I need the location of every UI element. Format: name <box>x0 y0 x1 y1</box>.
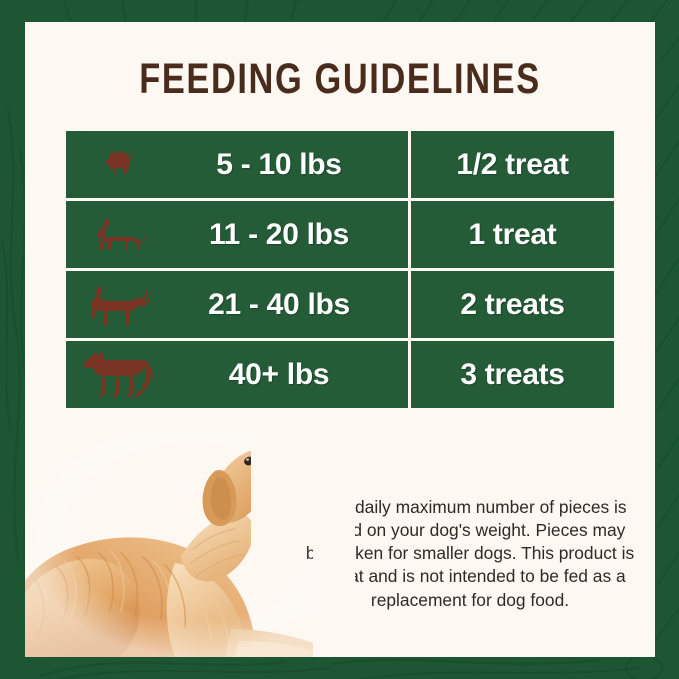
large-dog-icon <box>74 349 166 401</box>
treat-amount-label: 1 treat <box>469 218 557 252</box>
small-dog-icon <box>74 146 166 184</box>
page-title: FEEDING GUIDELINES <box>88 58 592 101</box>
weight-range-label: 40+ lbs <box>166 358 408 392</box>
weight-range-label: 21 - 40 lbs <box>166 288 408 322</box>
golden-retriever-photo <box>25 415 355 657</box>
table-cell-weight: 21 - 40 lbs <box>66 271 408 338</box>
table-cell-treats: 1 treat <box>411 201 614 268</box>
weight-range-label: 11 - 20 lbs <box>166 218 408 252</box>
feeding-guidelines-graphic: FEEDING GUIDELINES 5 - 10 <box>0 0 679 679</box>
table-cell-treats: 3 treats <box>411 341 614 408</box>
treat-amount-label: 3 treats <box>460 358 564 392</box>
table-row: 21 - 40 lbs 2 treats <box>66 271 614 338</box>
corgi-dog-icon <box>74 214 166 256</box>
table-row: 5 - 10 lbs 1/2 treat <box>66 131 614 198</box>
feeding-table: 5 - 10 lbs 1/2 treat <box>66 131 614 408</box>
table-row: 11 - 20 lbs 1 treat <box>66 201 614 268</box>
table-cell-weight: 11 - 20 lbs <box>66 201 408 268</box>
weight-range-label: 5 - 10 lbs <box>166 148 408 182</box>
table-cell-treats: 2 treats <box>411 271 614 338</box>
table-cell-treats: 1/2 treat <box>411 131 614 198</box>
treat-amount-label: 2 treats <box>460 288 564 322</box>
table-row: 40+ lbs 3 treats <box>66 341 614 408</box>
medium-dog-icon <box>74 281 166 329</box>
treat-amount-label: 1/2 treat <box>456 148 568 182</box>
table-cell-weight: 5 - 10 lbs <box>66 131 408 198</box>
table-cell-weight: 40+ lbs <box>66 341 408 408</box>
content-card: FEEDING GUIDELINES 5 - 10 <box>25 22 655 657</box>
